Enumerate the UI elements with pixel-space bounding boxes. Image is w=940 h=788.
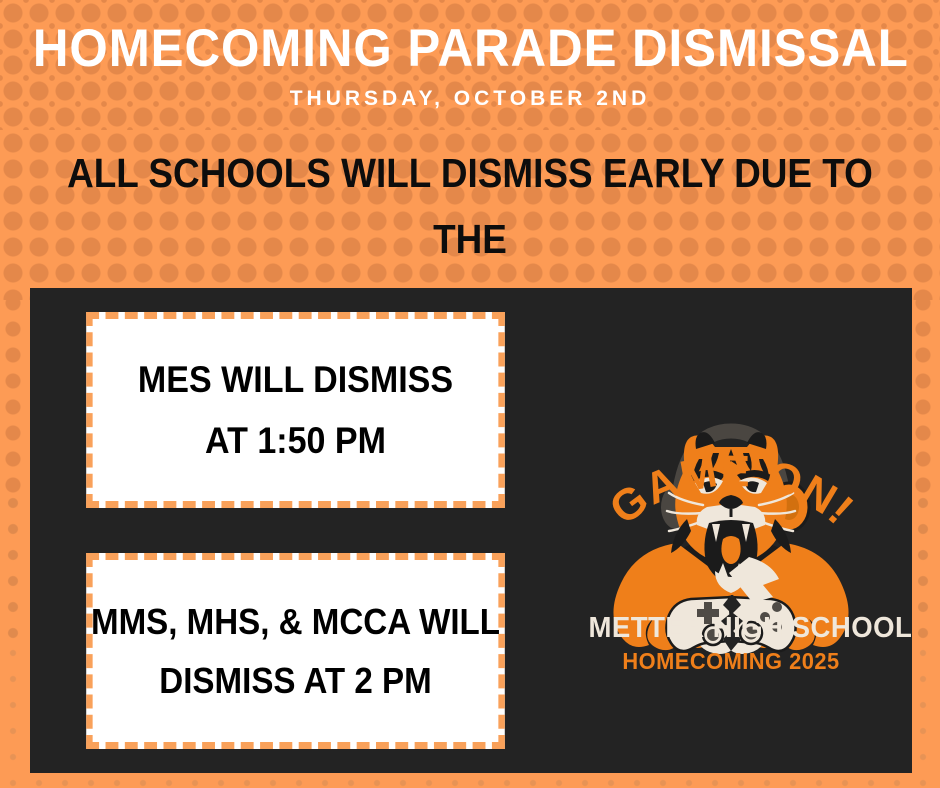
logo-event-name: HOMECOMING 2025 [589, 648, 874, 675]
dismissal-box-mes-line-1: MES WILL DISMISS [138, 349, 453, 410]
dismissal-box-secondary-line-1: MMS, MHS, & MCCA WILL [91, 592, 500, 651]
announcement-line-1: ALL SCHOOLS WILL DISMISS EARLY DUE TO TH… [47, 140, 893, 273]
dismissal-box-secondary: MMS, MHS, & MCCA WILL DISMISS AT 2 PM [86, 553, 505, 749]
logo-area: GAME ON! [550, 288, 912, 773]
dismissal-box-mes: MES WILL DISMISS AT 1:50 PM [86, 312, 505, 508]
page-title: HOMECOMING PARADE DISMISSAL [33, 0, 907, 75]
poster-header: HOMECOMING PARADE DISMISSAL THURSDAY, OC… [0, 0, 940, 111]
homecoming-logo: GAME ON! [581, 371, 881, 691]
event-date: THURSDAY, OCTOBER 2ND [0, 75, 940, 111]
svg-text:GAME ON!: GAME ON! [601, 446, 863, 534]
logo-school-name: METTER HIGH SCHOOL [589, 612, 874, 645]
details-panel: MES WILL DISMISS AT 1:50 PM MMS, MHS, & … [30, 288, 912, 773]
homecoming-dismissal-poster: HOMECOMING PARADE DISMISSAL THURSDAY, OC… [0, 0, 940, 788]
game-on-label: GAME ON! [601, 446, 863, 534]
dismissal-box-mes-line-2: AT 1:50 PM [205, 410, 386, 471]
dismissal-box-secondary-line-2: DISMISS AT 2 PM [159, 651, 431, 710]
dismissal-boxes: MES WILL DISMISS AT 1:50 PM MMS, MHS, & … [30, 288, 550, 773]
